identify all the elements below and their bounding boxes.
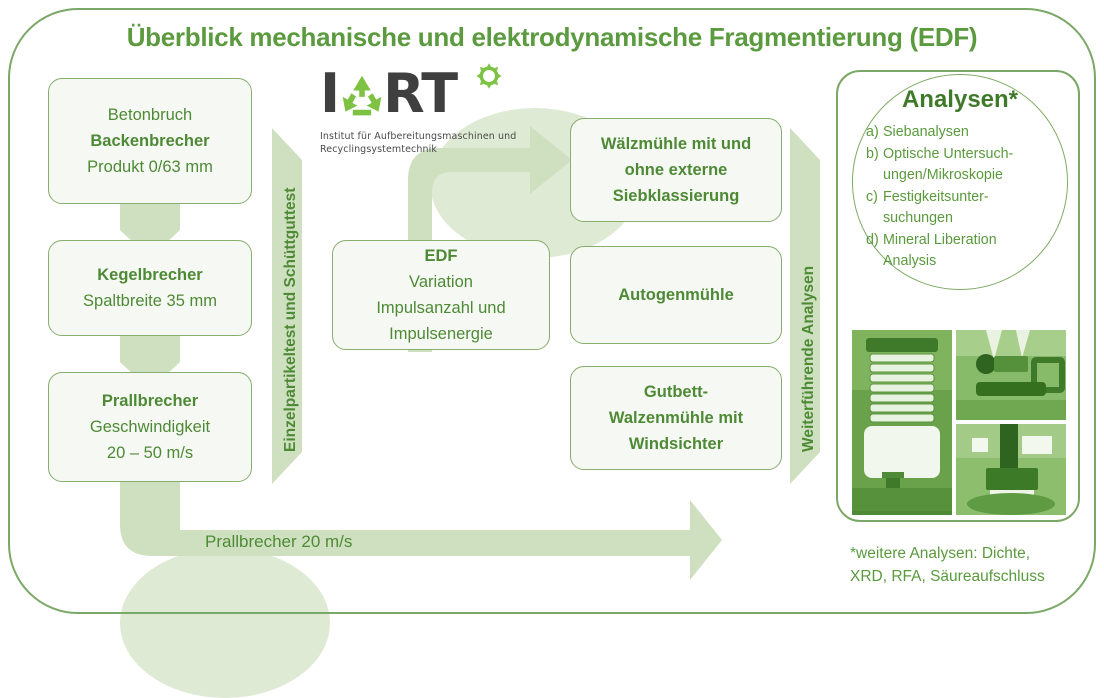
process-box-prallbrecher[interactable]: Prallbrecher Geschwindigkeit 20 – 50 m/s xyxy=(48,372,252,482)
list-text-cont: ungen/Mikroskopie xyxy=(866,165,1066,187)
footnote-line2: XRD, RFA, Säureaufschluss xyxy=(850,565,1090,588)
testing-rig-photo xyxy=(956,330,1066,420)
list-text-cont: suchungen xyxy=(866,208,1066,230)
logo-letter-rt: RT xyxy=(383,68,457,120)
list-marker: b) xyxy=(866,144,883,166)
process-box-edf[interactable]: EDF Variation Impulsanzahl und Impulsene… xyxy=(332,240,550,350)
list-text: Optische Untersuch- xyxy=(883,144,1013,166)
list-item: d) Mineral Liberation xyxy=(866,230,1066,252)
logo-mark: I RT xyxy=(320,68,530,124)
process-box-betonbruch[interactable]: Betonbruch Backenbrecher Produkt 0/63 mm xyxy=(48,78,252,204)
box3-line2: Geschwindigkeit xyxy=(90,414,210,440)
mill1-line1: Wälzmühle mit und xyxy=(601,131,751,157)
list-text-cont: Analysis xyxy=(866,251,1066,273)
box2-line2: Spaltbreite 35 mm xyxy=(83,288,217,314)
footnote-line1: *weitere Analysen: Dichte, xyxy=(850,542,1090,565)
logo-letter-i: I xyxy=(320,68,339,120)
analysis-title: Analysen* xyxy=(852,86,1068,114)
mill2-line1: Autogenmühle xyxy=(618,282,734,308)
process-box-kegelbrecher[interactable]: Kegelbrecher Spaltbreite 35 mm xyxy=(48,240,252,336)
list-text: Mineral Liberation xyxy=(883,230,997,252)
sieve-shaker-photo xyxy=(852,330,952,515)
list-marker: c) xyxy=(866,187,883,209)
logo-subtitle-line1: Institut für Aufbereitungsmaschinen und xyxy=(320,130,530,143)
diagram-canvas: Überblick mechanische und elektrodynamis… xyxy=(0,0,1104,640)
process-box-gutbett-walzenmuehle[interactable]: Gutbett- Walzenmühle mit Windsichter xyxy=(570,366,782,470)
box2-line1: Kegelbrecher xyxy=(97,262,202,288)
list-marker: a) xyxy=(866,122,883,144)
logo-subtitle-line2: Recyclingsystemtechnik xyxy=(320,143,530,156)
analysis-footnote: *weitere Analysen: Dichte, XRD, RFA, Säu… xyxy=(850,542,1090,588)
box1-line1: Betonbruch xyxy=(108,102,192,128)
box1-line3: Produkt 0/63 mm xyxy=(87,154,213,180)
box1-line2: Backenbrecher xyxy=(90,128,209,154)
edf-line2: Variation xyxy=(409,269,473,295)
logo-subtitle: Institut für Aufbereitungsmaschinen und … xyxy=(320,130,530,156)
mill3-line3: Windsichter xyxy=(629,431,723,457)
box3-line1: Prallbrecher xyxy=(102,388,198,414)
list-text: Siebanalysen xyxy=(883,122,969,144)
sample-fixture-photo xyxy=(956,424,1066,515)
mill1-line2: ohne externe xyxy=(625,157,728,183)
edf-line3: Impulsanzahl und xyxy=(376,295,505,321)
label-weiterfuehrende-analysen: Weiterführende Analysen xyxy=(800,266,818,452)
analysis-list: a) Siebanalysen b) Optische Untersuch- u… xyxy=(866,122,1066,273)
list-marker: d) xyxy=(866,230,883,252)
mill3-line2: Walzenmühle mit xyxy=(609,405,743,431)
list-text: Festigkeitsunter- xyxy=(883,187,989,209)
label-einzelpartikeltest: Einzelpartikeltest und Schüttguttest xyxy=(282,188,300,452)
photo-collage xyxy=(852,330,1066,515)
process-box-autogenmuehle[interactable]: Autogenmühle xyxy=(570,246,782,344)
page-title: Überblick mechanische und elektrodynamis… xyxy=(0,22,1104,53)
mill1-line3: Siebklassierung xyxy=(613,183,740,209)
mill3-line1: Gutbett- xyxy=(644,379,708,405)
recycling-arrows-icon xyxy=(339,70,385,122)
iart-logo: I RT Institut für Aufbereitungsmaschinen… xyxy=(320,68,530,156)
list-item: a) Siebanalysen xyxy=(866,122,1066,144)
gear-icon xyxy=(475,62,503,90)
process-box-waelzmuehle[interactable]: Wälzmühle mit und ohne externe Siebklass… xyxy=(570,118,782,222)
label-bottom-bypass: Prallbrecher 20 m/s xyxy=(205,532,352,552)
edf-line4: Impulsenergie xyxy=(389,321,493,347)
box3-line3: 20 – 50 m/s xyxy=(107,440,193,466)
list-item: b) Optische Untersuch- xyxy=(866,144,1066,166)
edf-line1: EDF xyxy=(425,243,458,269)
list-item: c) Festigkeitsunter- xyxy=(866,187,1066,209)
